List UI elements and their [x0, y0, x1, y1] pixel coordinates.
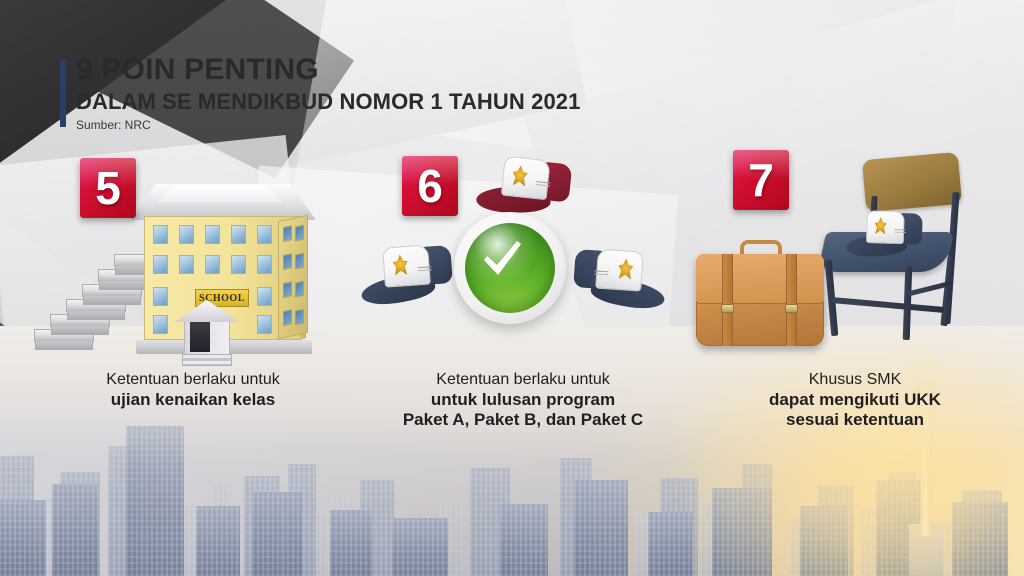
infographic-stage: 9 POIN PENTING DALAM SE MENDIKBUD NOMOR …: [0, 0, 1024, 576]
point-caption-7: Khusus SMK dapat mengikuti UKK sesuai ke…: [690, 370, 1020, 431]
checkmark-icon: [478, 234, 526, 282]
header: 9 POIN PENTING DALAM SE MENDIKBUD NOMOR …: [60, 54, 580, 132]
briefcase-graphic: [696, 240, 824, 346]
graduation-cap-icon: [568, 243, 668, 312]
point-caption-6: Ketentuan berlaku untuk untuk lulusan pr…: [358, 370, 688, 431]
point-number-badge-7: 7: [733, 150, 789, 210]
school-building-graphic: SCHOOL: [128, 184, 318, 354]
page-subtitle: DALAM SE MENDIKBUD NOMOR 1 TAHUN 2021: [76, 90, 580, 113]
caption-line: Khusus SMK: [690, 370, 1020, 390]
source-label: Sumber: NRC: [76, 118, 580, 132]
school-entrance: [174, 300, 240, 356]
school-chair-graphic: [808, 156, 988, 346]
illustration-caps-checkmark: 6: [358, 150, 688, 360]
point-number-badge-6: 6: [402, 156, 458, 216]
caption-line: ujian kenaikan kelas: [28, 390, 358, 411]
graduation-cap-icon: [475, 149, 577, 221]
green-checkmark-badge: [454, 212, 566, 324]
illustration-briefcase-chair: 7: [690, 150, 1020, 360]
caption-line: untuk lulusan program: [358, 390, 688, 411]
point-caption-5: Ketentuan berlaku untuk ujian kenaikan k…: [28, 370, 358, 410]
atmospheric-haze: [0, 326, 1024, 576]
caption-line: Ketentuan berlaku untuk: [358, 370, 688, 390]
illustration-school-building: SCHOOL: [28, 150, 358, 360]
graduation-cap-icon: [358, 239, 458, 308]
graduation-cap-icon: [846, 206, 926, 260]
point-number-badge-5: 5: [80, 158, 136, 218]
caption-line: Ketentuan berlaku untuk: [28, 370, 358, 390]
caption-line: sesuai ketentuan: [690, 410, 1020, 431]
caption-line: Paket A, Paket B, dan Paket C: [358, 410, 688, 431]
page-title: 9 POIN PENTING: [76, 54, 580, 86]
caption-line: dapat mengikuti UKK: [690, 390, 1020, 411]
title-accent-bar: [60, 59, 66, 127]
city-skyline-background: [0, 326, 1024, 576]
